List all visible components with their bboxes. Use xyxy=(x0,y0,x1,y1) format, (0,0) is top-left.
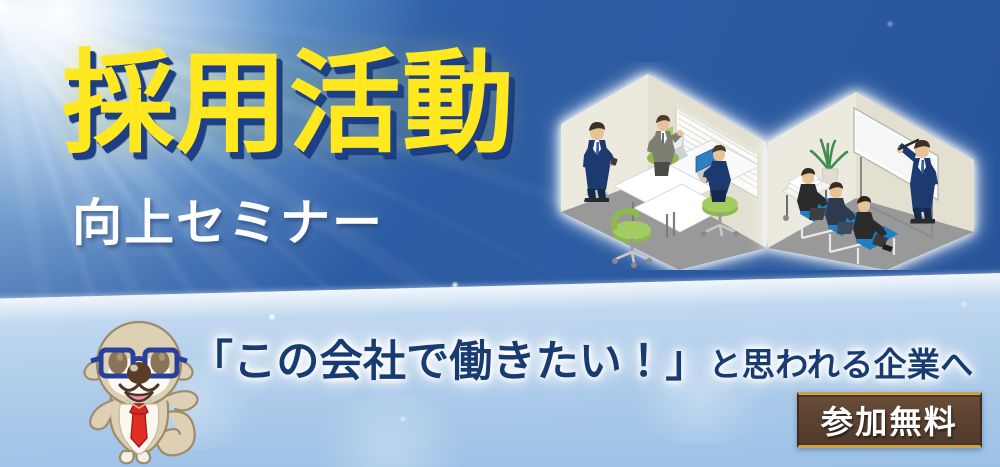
free-admission-badge[interactable]: 参加無料 xyxy=(797,392,982,448)
red-necktie-icon xyxy=(130,404,148,447)
banner-tagline: 「この会社で働きたい！」と思われる企業へ xyxy=(190,341,974,384)
banner-headline: 採用活動 xyxy=(62,48,515,160)
badge-label: 参加無料 xyxy=(821,397,958,443)
banner-subheadline: 向上セミナー xyxy=(72,198,384,248)
eye xyxy=(109,350,128,374)
tagline-quoted-phrase: 「この会社で働きたい！」 xyxy=(190,338,709,386)
tagline-suffix: と思われる企業へ xyxy=(709,346,974,383)
isometric-office-illustration xyxy=(536,62,996,270)
eye xyxy=(151,350,170,374)
seminar-promo-banner: 採用活動 向上セミナー 「この会社で働きたい！」と思われる企業へ xyxy=(0,0,1000,467)
nose xyxy=(127,362,151,384)
badge-inner-frame: 参加無料 xyxy=(799,395,980,445)
squirrel-mascot xyxy=(64,300,214,467)
